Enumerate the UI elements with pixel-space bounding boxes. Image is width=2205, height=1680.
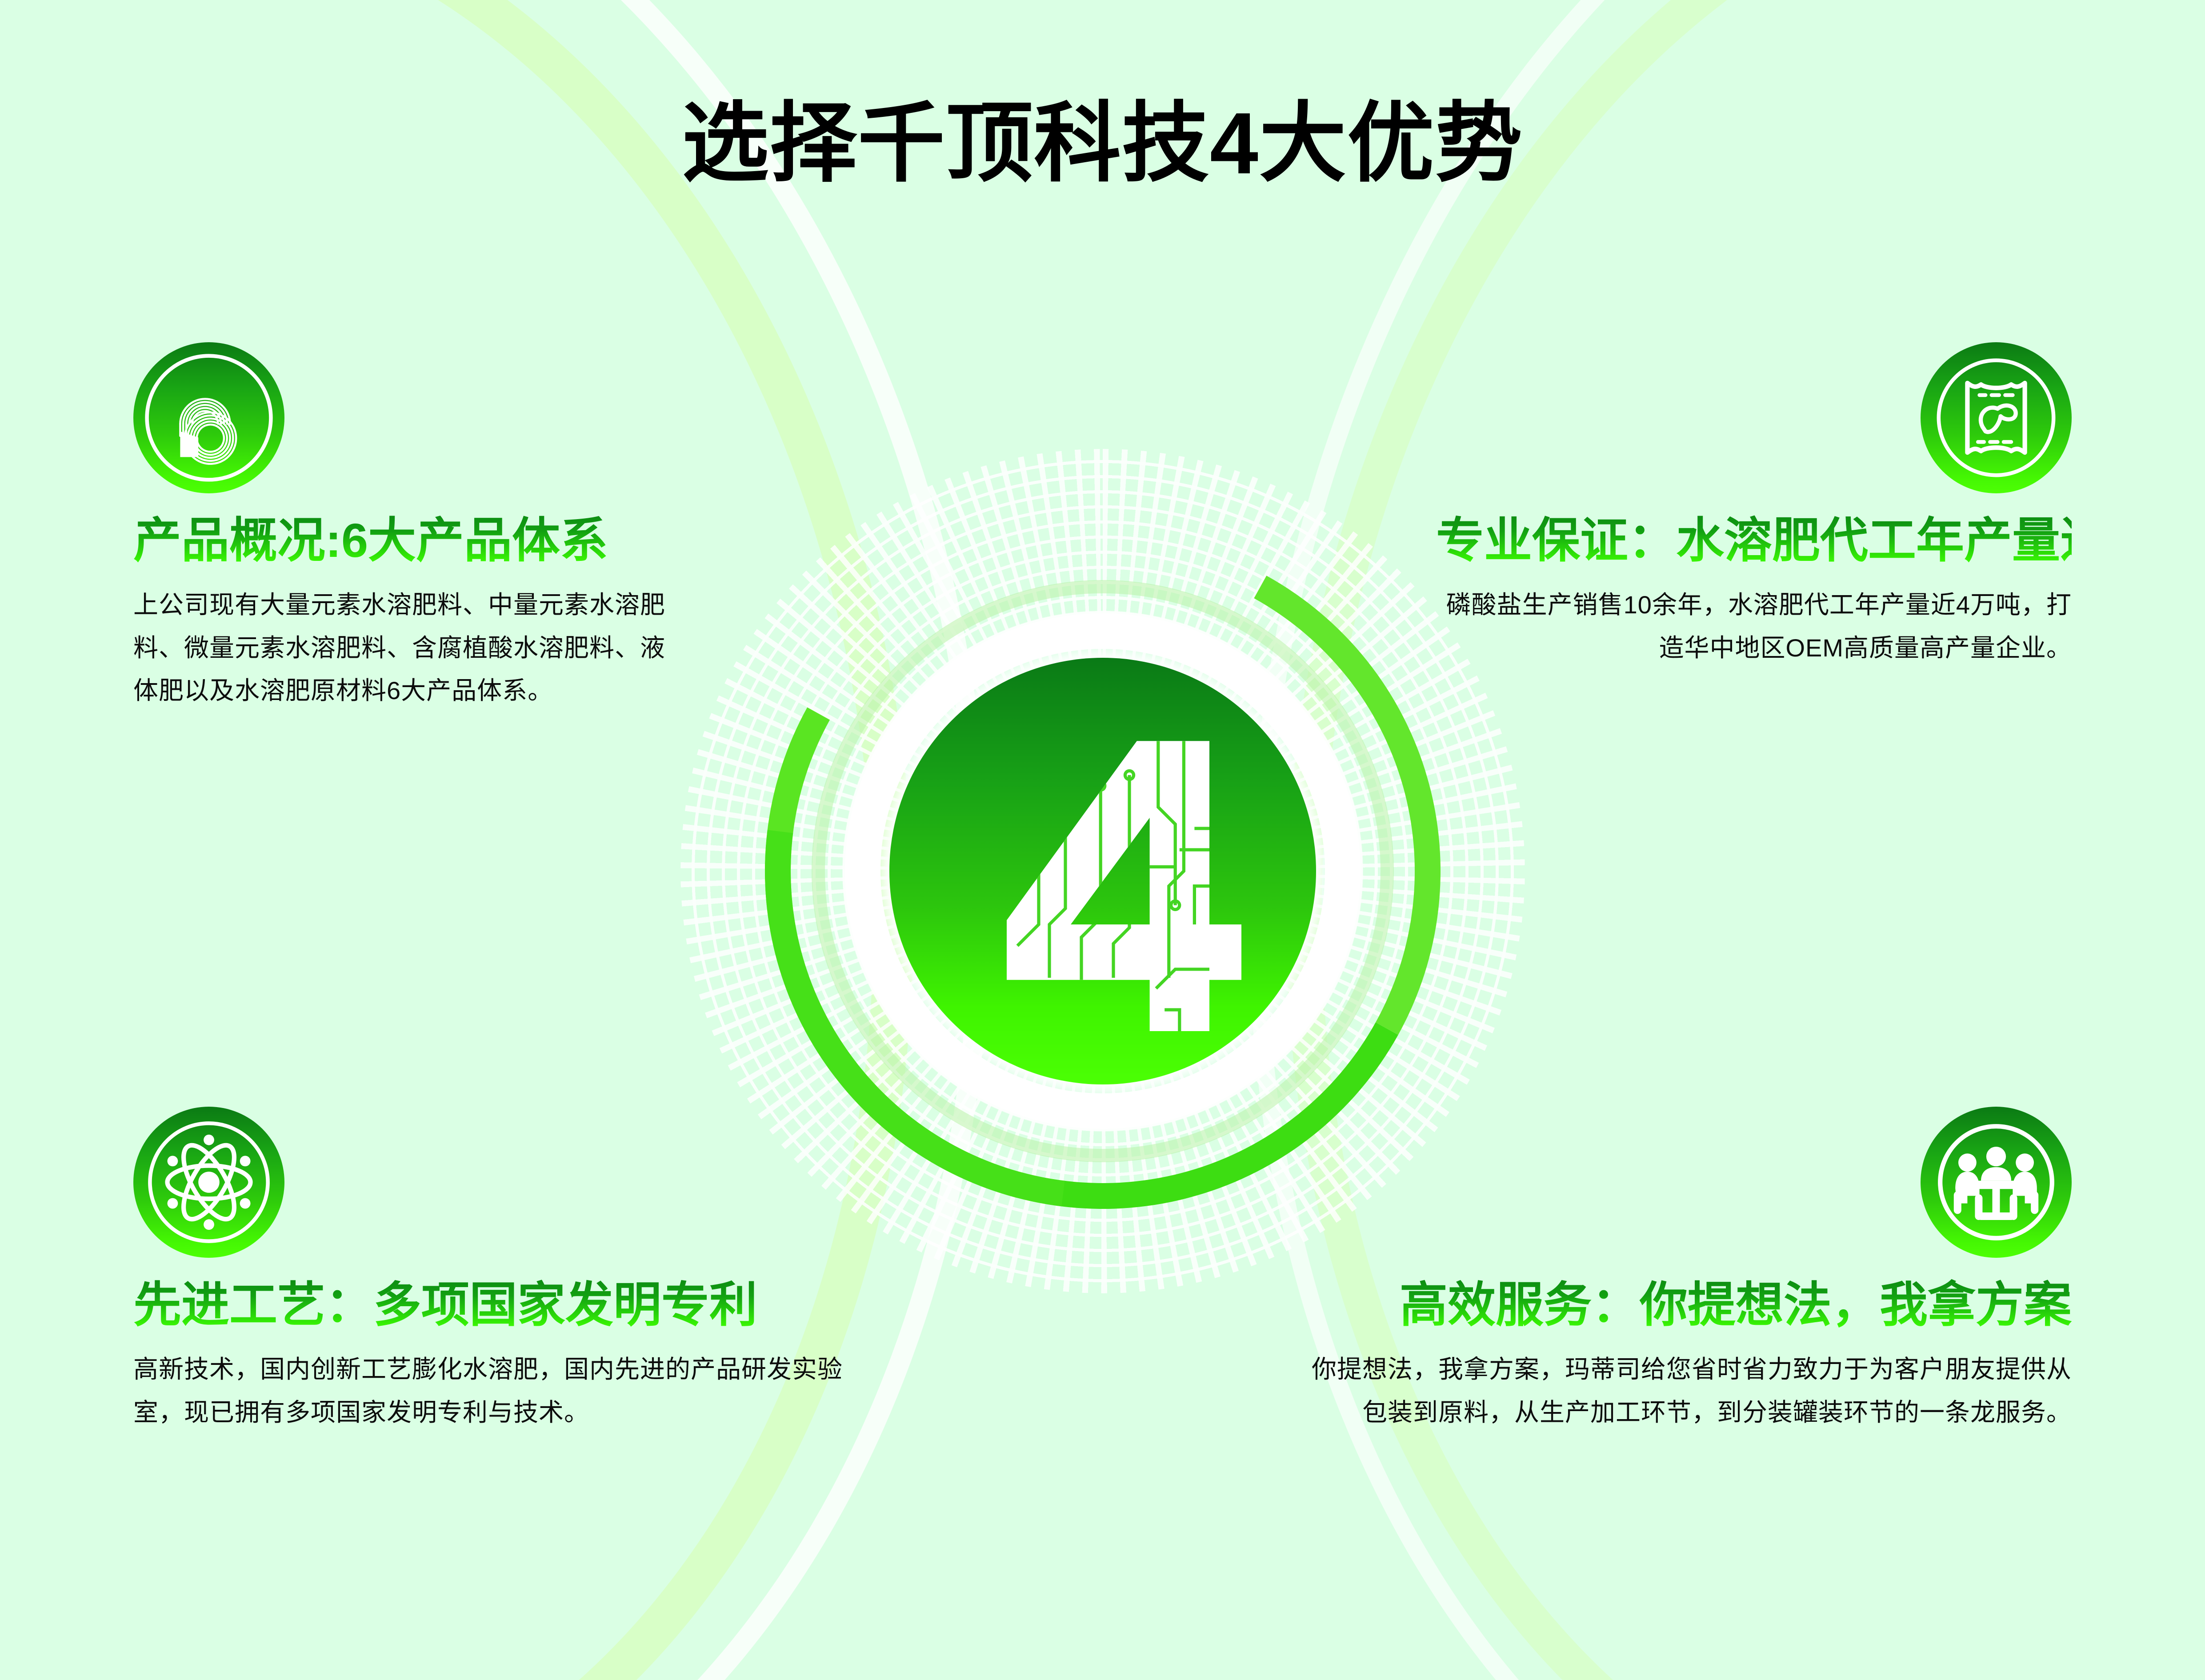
advantage-heading: 产品概况:6大产品体系	[133, 512, 724, 568]
meeting-team-icon	[1921, 1107, 2072, 1258]
page-title: 选择千顶科技4大优势	[0, 98, 2205, 189]
advantage-body: 你提想法，我拿方案，玛蒂司给您省时省力致力于为客户朋友提供从包装到原料，从生产加…	[1289, 1348, 2072, 1434]
advantage-card-top-left: 产品概况:6大产品体系 上公司现有大量元素水溶肥料、中量元素水溶肥料、微量元素水…	[133, 342, 724, 712]
advantage-card-bottom-right: 高效服务：你提想法，我拿方案 你提想法，我拿方案，玛蒂司给您省时省力致力于为客户…	[1289, 1107, 2072, 1434]
number-four-circuit-icon	[889, 658, 1316, 1084]
advantage-body: 高新技术，国内创新工艺膨化水溶肥，国内先进的产品研发实验室，现已拥有多项国家发明…	[133, 1348, 889, 1434]
advantage-heading: 专业保证：水溶肥代工年产量近4万吨	[1436, 512, 2072, 568]
advantage-card-top-right: 专业保证：水溶肥代工年产量近4万吨 磷酸盐生产销售10余年，水溶肥代工年产量近4…	[1436, 342, 2072, 669]
number-six-rings-icon	[133, 342, 284, 493]
advantage-body: 上公司现有大量元素水溶肥料、中量元素水溶肥料、微量元素水溶肥料、含腐植酸水溶肥料…	[133, 584, 689, 712]
advantage-heading: 高效服务：你提想法，我拿方案	[1289, 1276, 2072, 1333]
advantage-heading: 先进工艺：多项国家发明专利	[133, 1276, 889, 1333]
advantage-body: 磷酸盐生产销售10余年，水溶肥代工年产量近4万吨，打造华中地区OEM高质量高产量…	[1436, 584, 2072, 669]
fertilizer-bag-icon	[1921, 342, 2072, 493]
advantage-card-bottom-left: 先进工艺：多项国家发明专利 高新技术，国内创新工艺膨化水溶肥，国内先进的产品研发…	[133, 1107, 889, 1434]
atom-icon	[133, 1107, 284, 1258]
center-number-disc	[889, 658, 1316, 1084]
